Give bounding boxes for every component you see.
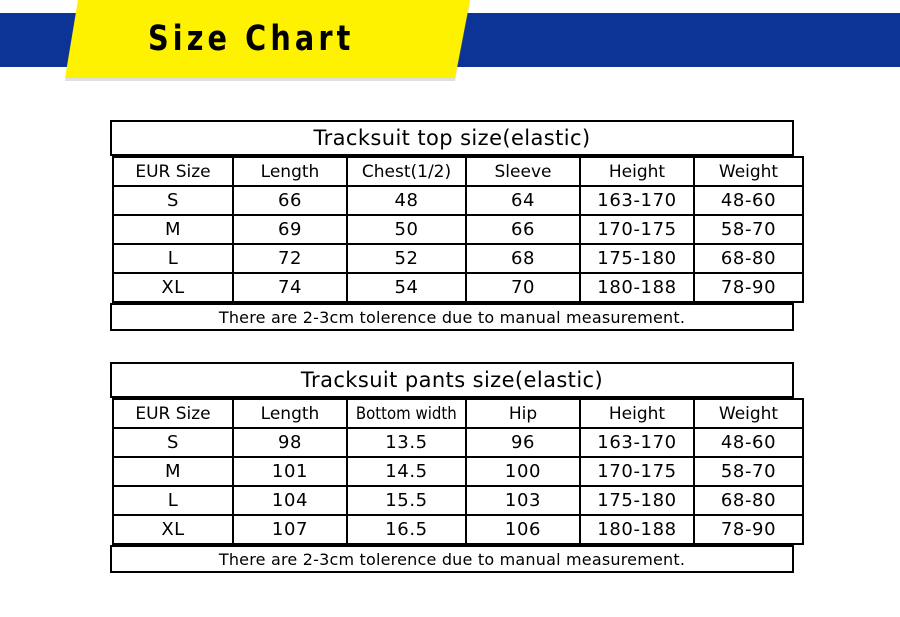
cell-weight: 48-60 [694,186,803,215]
cell-height: 180-188 [580,515,694,544]
cell-size: S [113,428,233,457]
page-title: Size Chart [148,15,354,63]
cell-chest: 50 [347,215,466,244]
cell-weight: 78-90 [694,515,803,544]
column-header-height: Height [580,157,694,186]
cell-size: XL [113,515,233,544]
cell-length: 107 [233,515,347,544]
cell-bottom-width: 15.5 [347,486,466,515]
cell-length: 69 [233,215,347,244]
cell-weight: 58-70 [694,457,803,486]
column-header-chest: Chest(1/2) [347,157,466,186]
table-row: XL 107 16.5 106 180-188 78-90 [113,515,803,544]
cell-bottom-width: 14.5 [347,457,466,486]
column-header-sleeve: Sleeve [466,157,580,186]
column-header-bottom-width-text: Bottom width [356,404,457,424]
column-header-length: Length [233,399,347,428]
cell-chest: 54 [347,273,466,302]
cell-bottom-width: 13.5 [347,428,466,457]
cell-height: 163-170 [580,186,694,215]
cell-size: M [113,457,233,486]
cell-length: 74 [233,273,347,302]
cell-height: 175-180 [580,486,694,515]
table-row: S 98 13.5 96 163-170 48-60 [113,428,803,457]
cell-sleeve: 70 [466,273,580,302]
table-title-top: Tracksuit top size(elastic) [110,120,794,156]
table-row: S 66 48 64 163-170 48-60 [113,186,803,215]
cell-chest: 48 [347,186,466,215]
cell-length: 72 [233,244,347,273]
cell-length: 98 [233,428,347,457]
column-header-height: Height [580,399,694,428]
cell-size: L [113,244,233,273]
cell-bottom-width: 16.5 [347,515,466,544]
size-table-bottom: EUR Size Length Bottom width Hip Height … [112,398,804,545]
table-row: XL 74 54 70 180-188 78-90 [113,273,803,302]
cell-hip: 100 [466,457,580,486]
table-title-bottom: Tracksuit pants size(elastic) [110,362,794,398]
column-header-weight: Weight [694,399,803,428]
column-header-hip: Hip [466,399,580,428]
cell-size: S [113,186,233,215]
table-header-row: EUR Size Length Bottom width Hip Height … [113,399,803,428]
cell-weight: 68-80 [694,486,803,515]
cell-height: 175-180 [580,244,694,273]
cell-size: L [113,486,233,515]
size-table-top: EUR Size Length Chest(1/2) Sleeve Height… [112,156,804,303]
cell-hip: 103 [466,486,580,515]
cell-weight: 68-80 [694,244,803,273]
column-header-weight: Weight [694,157,803,186]
cell-sleeve: 68 [466,244,580,273]
cell-height: 180-188 [580,273,694,302]
column-header-length: Length [233,157,347,186]
cell-length: 101 [233,457,347,486]
size-block-bottom: Tracksuit pants size(elastic) EUR Size L… [110,362,794,573]
cell-sleeve: 64 [466,186,580,215]
cell-size: M [113,215,233,244]
tolerance-note-bottom: There are 2-3cm tolerence due to manual … [110,545,794,573]
cell-length: 66 [233,186,347,215]
table-row: M 101 14.5 100 170-175 58-70 [113,457,803,486]
cell-weight: 78-90 [694,273,803,302]
page-banner: Size Chart [0,0,900,90]
cell-sleeve: 66 [466,215,580,244]
cell-hip: 106 [466,515,580,544]
cell-length: 104 [233,486,347,515]
cell-weight: 48-60 [694,428,803,457]
column-header-eur-size: EUR Size [113,399,233,428]
table-header-row: EUR Size Length Chest(1/2) Sleeve Height… [113,157,803,186]
column-header-eur-size: EUR Size [113,157,233,186]
cell-height: 170-175 [580,457,694,486]
cell-hip: 96 [466,428,580,457]
cell-height: 163-170 [580,428,694,457]
tolerance-note-top: There are 2-3cm tolerence due to manual … [110,303,794,331]
table-row: M 69 50 66 170-175 58-70 [113,215,803,244]
size-block-top: Tracksuit top size(elastic) EUR Size Len… [110,120,794,331]
cell-weight: 58-70 [694,215,803,244]
column-header-bottom-width: Bottom width [347,399,466,428]
cell-chest: 52 [347,244,466,273]
table-row: L 72 52 68 175-180 68-80 [113,244,803,273]
cell-size: XL [113,273,233,302]
cell-height: 170-175 [580,215,694,244]
table-row: L 104 15.5 103 175-180 68-80 [113,486,803,515]
